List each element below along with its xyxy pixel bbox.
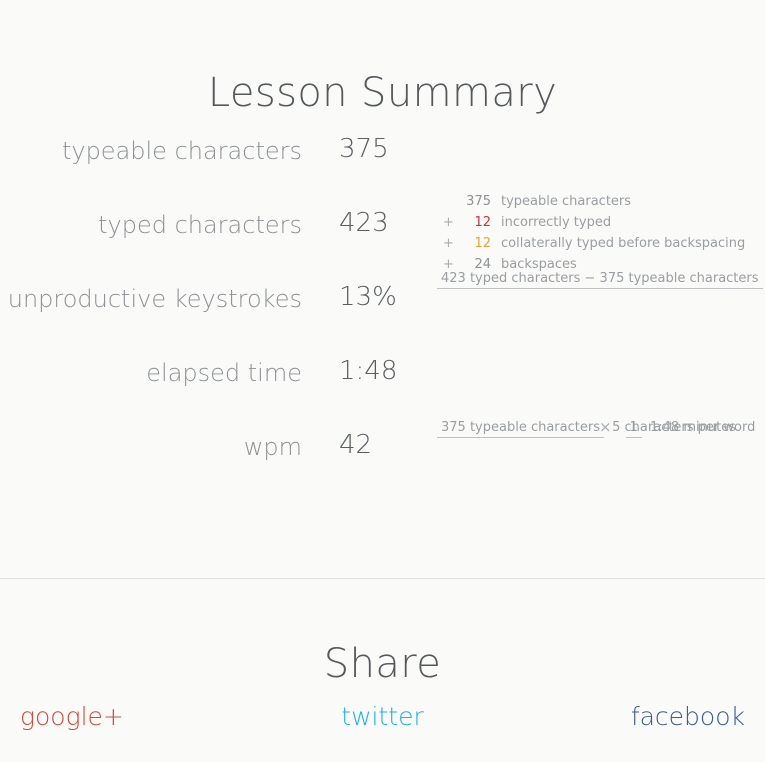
fraction-numerator: 375 typeable characters: [437, 420, 604, 438]
stat-row-elapsed-time: elapsed time 1:48: [0, 350, 765, 424]
breakdown-number: 12: [451, 215, 491, 230]
stat-row-unproductive-keystrokes: unproductive keystrokes 13% 423 typed ch…: [0, 276, 765, 350]
stat-value: 375: [339, 134, 389, 164]
lesson-summary-page: Lesson Summary typeable characters 375 t…: [0, 0, 765, 762]
stat-row-typed-characters: typed characters 423 375 typeable charac…: [0, 202, 765, 276]
fraction-right: 1 1:48 minutes: [626, 419, 712, 436]
unproductive-keystrokes-formula: 423 typed characters − 375 typeable char…: [437, 270, 733, 287]
breakdown-number: 375: [451, 194, 491, 209]
stats-list: typeable characters 375 typed characters…: [0, 128, 765, 498]
stat-value: 42: [339, 430, 372, 460]
stat-label: typed characters: [0, 210, 302, 240]
breakdown-label: incorrectly typed: [501, 215, 611, 230]
page-title: Lesson Summary: [0, 73, 765, 113]
stat-label: typeable characters: [0, 136, 302, 166]
breakdown-label: typeable characters: [501, 194, 631, 209]
fraction-numerator: 423 typed characters − 375 typeable char…: [437, 271, 763, 289]
breakdown-number: 12: [451, 236, 491, 251]
share-title: Share: [0, 644, 765, 684]
fraction-numerator: 1: [626, 420, 642, 438]
stat-label: wpm: [0, 432, 302, 462]
fraction-denominator: 1:48 minutes: [646, 418, 740, 435]
stat-value: 13%: [339, 282, 397, 312]
stat-value: 423: [339, 208, 389, 238]
wpm-formula: 375 typeable characters 5 characters per…: [437, 418, 712, 436]
stat-row-typeable-characters: typeable characters 375: [0, 128, 765, 202]
stat-value: 1:48: [339, 356, 397, 386]
fraction-left: 375 typeable characters 5 characters per…: [437, 419, 585, 436]
stat-label: elapsed time: [0, 358, 302, 388]
fraction: 423 typed characters − 375 typeable char…: [437, 270, 733, 287]
stat-row-wpm: wpm 42 375 typeable characters 5 charact…: [0, 424, 765, 498]
breakdown-label: collaterally typed before backspacing: [501, 236, 745, 251]
section-divider: [0, 578, 765, 579]
multiply-icon: ×: [585, 418, 626, 436]
share-links: google+ twitter facebook: [0, 700, 765, 738]
stat-label: unproductive keystrokes: [0, 284, 302, 314]
share-link-facebook[interactable]: facebook: [631, 700, 745, 734]
